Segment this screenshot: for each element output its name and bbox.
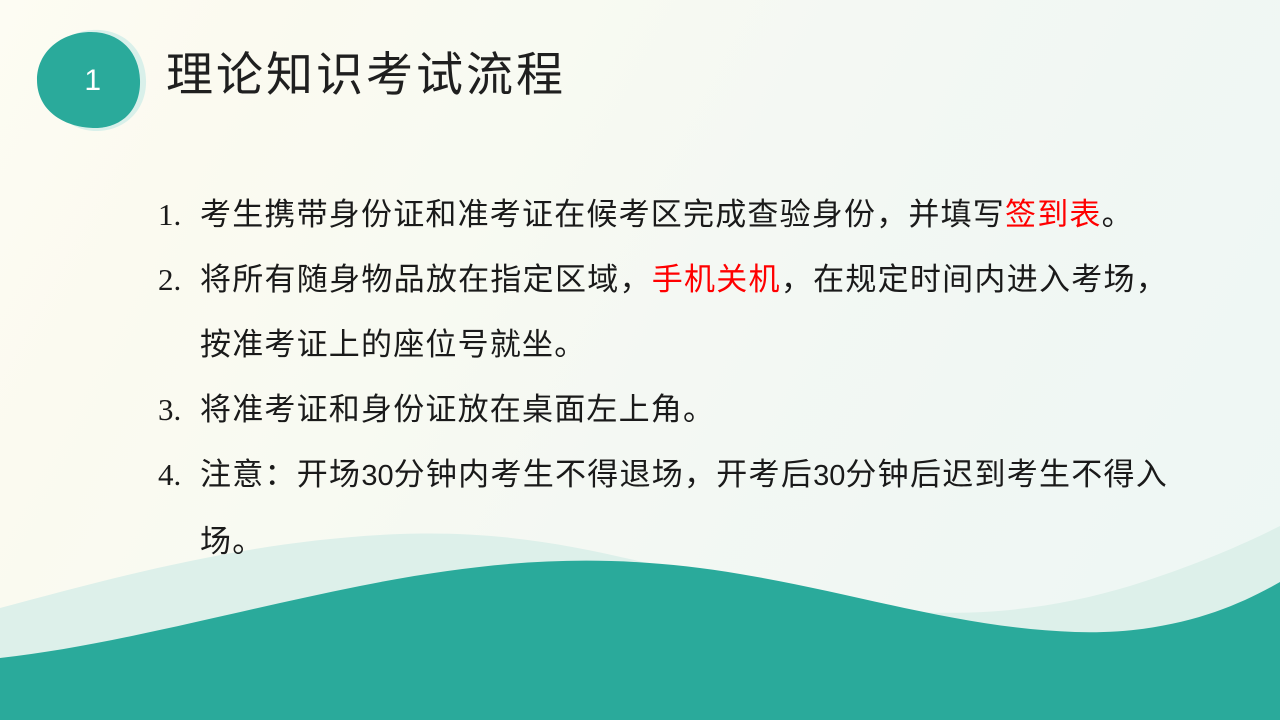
emphasis-text: 手机关机 — [652, 262, 781, 297]
body-text: 考生携带身份证和准考证在候考区完成查验身份，并填写 — [200, 197, 1005, 232]
emphasis-text: 签到表 — [1005, 197, 1102, 232]
list-item-text: 考生携带身份证和准考证在候考区完成查验身份，并填写签到表。 — [200, 182, 1168, 247]
inline-number: 30 — [361, 460, 393, 492]
list-item-text: 将所有随身物品放在指定区域，手机关机，在规定时间内进入考场，按准考证上的座位号就… — [200, 247, 1168, 377]
inline-number: 30 — [813, 460, 845, 492]
body-text: 将所有随身物品放在指定区域， — [200, 262, 652, 297]
procedure-list: 1. 考生携带身份证和准考证在候考区完成查验身份，并填写签到表。 2. 将所有随… — [158, 182, 1168, 574]
body-text: 注意：开场 — [200, 457, 361, 492]
list-item: 4. 注意：开场30分钟内考生不得退场，开考后30分钟后迟到考生不得入场。 — [158, 442, 1168, 574]
list-item: 1. 考生携带身份证和准考证在候考区完成查验身份，并填写签到表。 — [158, 182, 1168, 247]
list-item-text: 注意：开场30分钟内考生不得退场，开考后30分钟后迟到考生不得入场。 — [200, 442, 1168, 574]
body-text: 。 — [1102, 197, 1134, 232]
list-item-marker: 4. — [158, 442, 200, 507]
list-item-marker: 3. — [158, 377, 200, 442]
wave-front-path — [0, 561, 1280, 720]
list-item-text: 将准考证和身份证放在桌面左上角。 — [200, 377, 1168, 442]
list-item-marker: 1. — [158, 182, 200, 247]
list-item: 3. 将准考证和身份证放在桌面左上角。 — [158, 377, 1168, 442]
page-title: 理论知识考试流程 — [166, 46, 566, 106]
section-number-label: 1 — [31, 24, 151, 136]
slide-header: 1 理论知识考试流程 — [0, 0, 1280, 150]
body-text: 将准考证和身份证放在桌面左上角。 — [200, 392, 715, 427]
slide-canvas: 1 理论知识考试流程 1. 考生携带身份证和准考证在候考区完成查验身份，并填写签… — [0, 0, 1280, 720]
list-item: 2. 将所有随身物品放在指定区域，手机关机，在规定时间内进入考场，按准考证上的座… — [158, 247, 1168, 377]
section-number-badge: 1 — [31, 24, 151, 136]
list-item-marker: 2. — [158, 247, 200, 312]
body-text: 分钟内考生不得退场，开考后 — [394, 457, 814, 492]
